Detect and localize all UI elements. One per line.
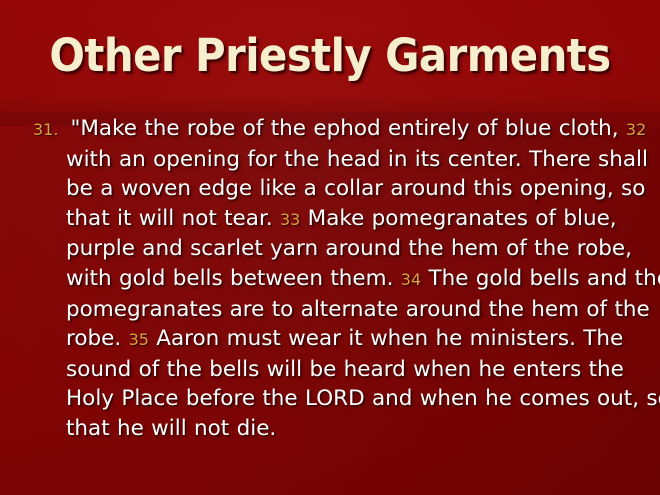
presentation-slide: Other Priestly Garments 31."Make the rob…	[0, 0, 660, 495]
verse-number-35: 35	[129, 330, 149, 349]
body-segment-1: "Make the robe of the ephod entirely of …	[70, 116, 625, 141]
slide-body-text: 31."Make the robe of the ephod entirely …	[33, 114, 660, 444]
verse-number-31: 31.	[33, 120, 58, 139]
verse-number-34: 34	[401, 270, 421, 289]
verse-number-33: 33	[280, 210, 300, 229]
body-segment-5: Aaron must wear it when he ministers. Th…	[66, 326, 660, 441]
verse-number-32: 32	[626, 120, 646, 139]
slide-title: Other Priestly Garments	[23, 30, 637, 82]
